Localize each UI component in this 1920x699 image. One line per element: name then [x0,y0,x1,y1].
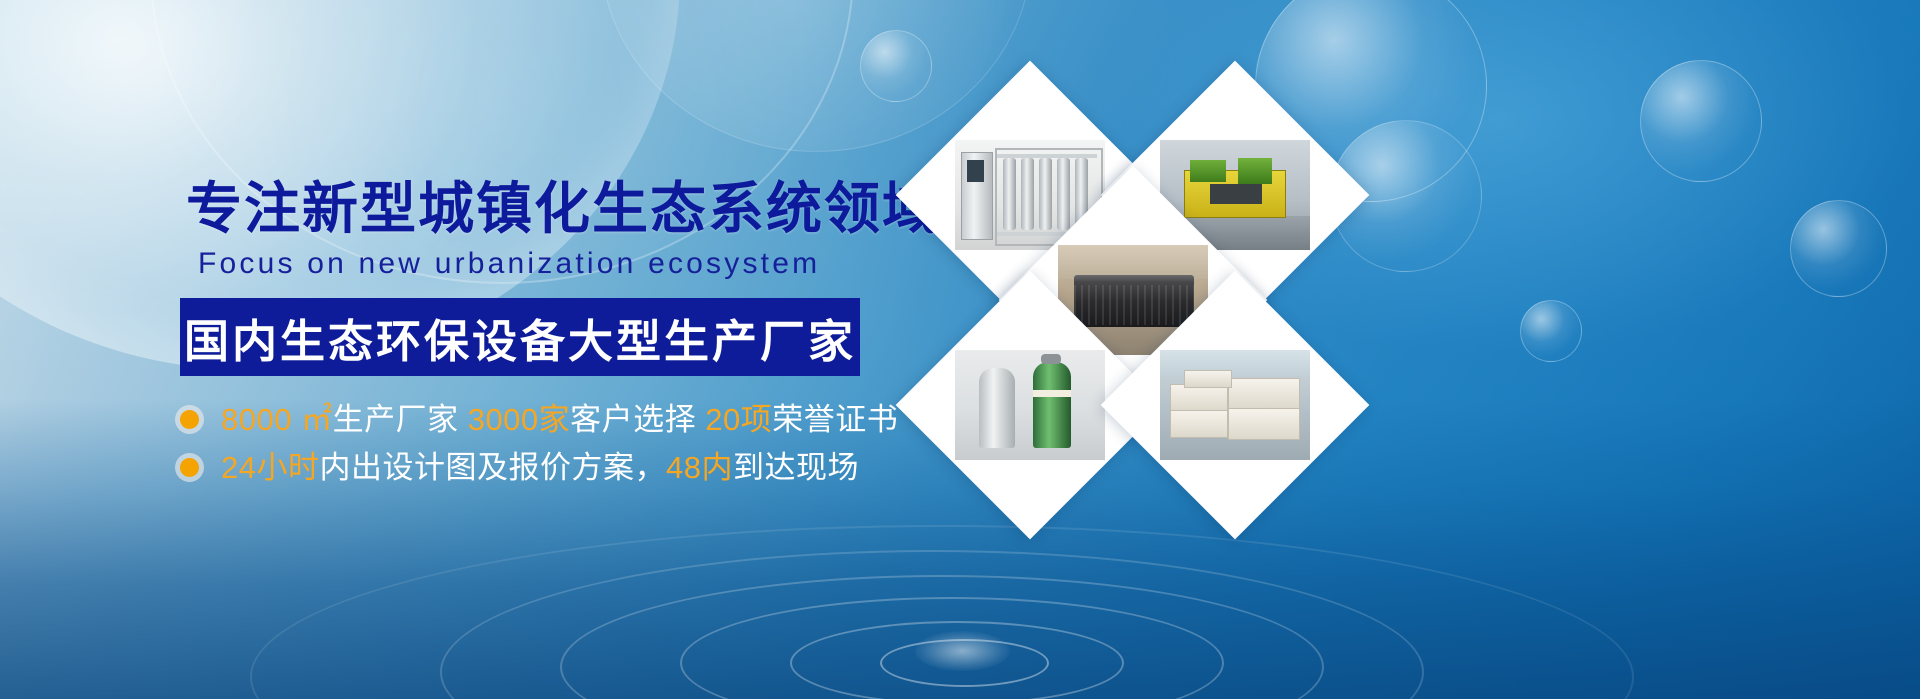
bullet1-seg6: 荣誉证书 [772,402,898,437]
bullet2-seg3: 48内 [666,450,733,485]
feature-bullet-2: 24小时内出设计图及报价方案，48内到达现场 [180,452,859,483]
highlight-box-text: 国内生态环保设备大型生产厂家 [180,298,860,376]
bullet-dot-icon [180,458,199,477]
highlight-box: 国内生态环保设备大型生产厂家 [180,298,860,376]
bullet2-seg1: 24小时 [221,450,319,485]
bullet2-seg4: 到达现场 [733,450,859,485]
banner-copy: 专注新型城镇化生态系统领域 Focus on new urbanization … [0,0,980,699]
bullet1-seg3: 3000家 [468,402,570,437]
bullet-dot-icon [180,410,199,429]
bullet1-seg4: 客户选择 [570,402,705,437]
feature-bullet-1-text: 8000 ㎡生产厂家 3000家客户选择 20项荣誉证书 [221,404,898,435]
promo-banner: 专注新型城镇化生态系统领域 Focus on new urbanization … [0,0,1920,699]
bullet1-seg5: 20项 [705,402,772,437]
product-photo-gallery: 水处理设备机组 黄绿色成型设备 [890,40,1920,660]
feature-bullet-2-text: 24小时内出设计图及报价方案，48内到达现场 [221,452,859,483]
bullet2-seg2: 内出设计图及报价方案， [319,450,666,485]
feature-bullet-1: 8000 ㎡生产厂家 3000家客户选择 20项荣誉证书 [180,404,898,435]
banner-headline: 专注新型城镇化生态系统领域 [186,181,940,237]
photo-white-block-stack: 白色砌块堆垛 [1160,350,1310,460]
bullet1-seg1: 8000 ㎡ [221,402,333,437]
banner-subheadline: Focus on new urbanization ecosystem [198,247,820,281]
bullet1-seg2: 生产厂家 [333,402,468,437]
photo-filter-vessels: 立式过滤罐 [955,350,1105,460]
